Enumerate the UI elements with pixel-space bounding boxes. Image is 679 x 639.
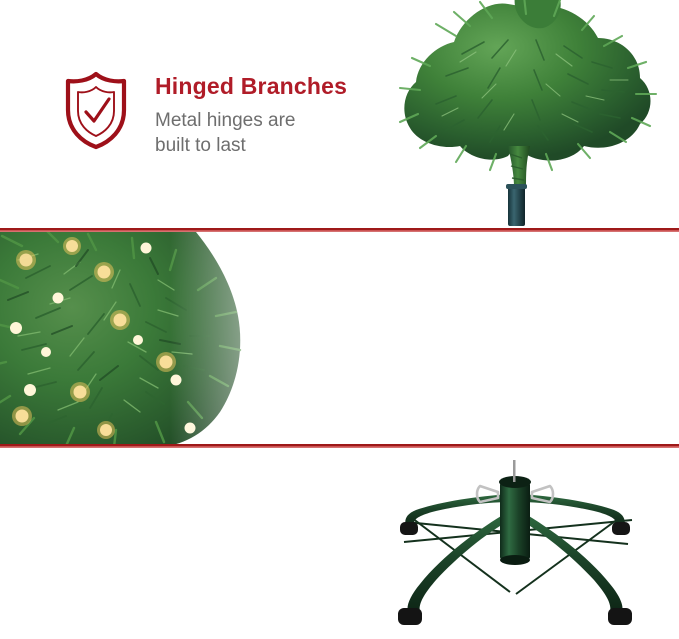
stand-foot-front-left: [398, 608, 422, 625]
hub-bottom-cap: [500, 555, 530, 565]
metal-hinge-sleeve: [508, 186, 525, 226]
prelit-tree-illustration: [0, 232, 352, 447]
branch-illustration: [396, 0, 679, 228]
stand-foot-back-left: [400, 522, 418, 535]
feature-panel-pvc-tips: PVC Tips Flame-retardant and easy to flu…: [0, 232, 679, 447]
hinged-branches-heading: Hinged Branches: [155, 74, 347, 99]
check-mark: [86, 99, 109, 121]
hinged-branches-subtitle-line-1: Metal hinges are: [155, 108, 347, 133]
stand-center-hub: [500, 482, 530, 560]
hinge-collar: [506, 184, 527, 189]
hinged-branches-text: Hinged Branches Metal hinges are built t…: [155, 74, 347, 158]
stand-foot-front-right: [608, 608, 632, 625]
photo-fade: [170, 232, 352, 447]
prelit-tree-photo: [0, 232, 352, 447]
artificial-tree-branch-photo: [396, 0, 679, 228]
metal-tree-stand-photo: [360, 460, 670, 628]
feature-panel-hinged-branches: Hinged Branches Metal hinges are built t…: [0, 0, 679, 231]
hub-center-pin: [513, 460, 516, 482]
feature-panel-sturdy-base: Sturdy Base A reliable metal stand for y…: [0, 448, 679, 639]
product-feature-infographic: Hinged Branches Metal hinges are built t…: [0, 0, 679, 639]
hinged-branches-subtitle-line-2: built to last: [155, 133, 347, 158]
stand-foot-back-right: [612, 522, 630, 535]
shield-inner: [78, 87, 114, 136]
tree-stand-illustration: [360, 460, 670, 628]
hinged-branches-subtitle: Metal hinges are built to last: [155, 108, 347, 158]
shield-check-icon: [62, 70, 130, 150]
branch-stem: [508, 146, 530, 188]
